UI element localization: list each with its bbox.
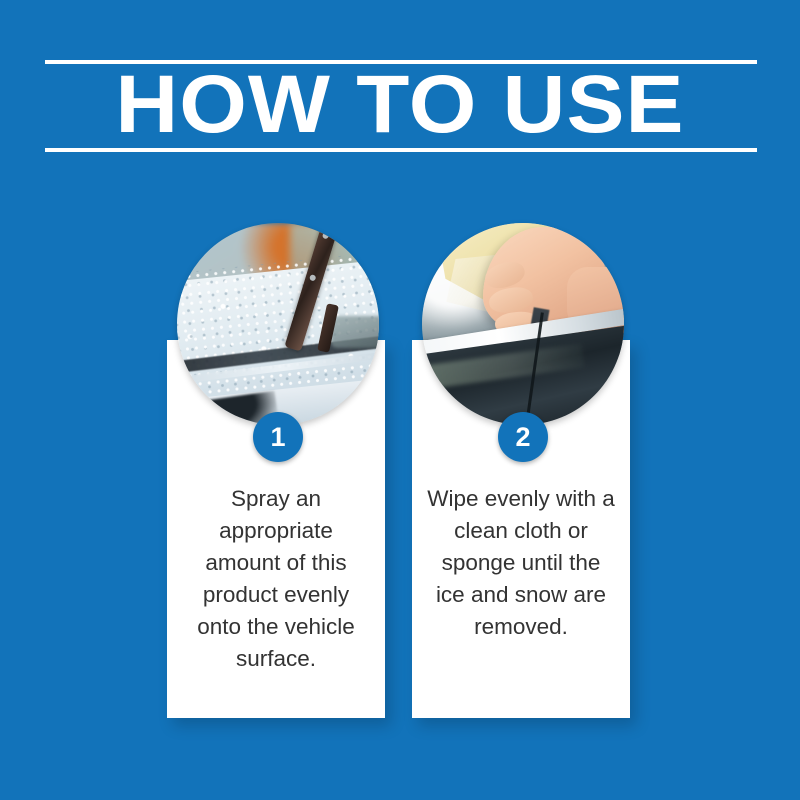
wiper-stud — [309, 274, 316, 281]
step-1-image — [177, 223, 379, 425]
steps-container: 1 Spray an appropriate amount of this pr… — [0, 0, 800, 800]
snow-windshield-photo — [177, 223, 379, 425]
wiper-stud — [322, 232, 329, 239]
step-badge-1: 1 — [253, 412, 303, 462]
step-badge-2: 2 — [498, 412, 548, 462]
step-1-caption: Spray an appropriate amount of this prod… — [180, 483, 372, 675]
step-2-image — [422, 223, 624, 425]
step-2-caption: Wipe evenly with a clean cloth or sponge… — [425, 483, 617, 643]
how-to-use-infographic: HOW TO USE 1 — [0, 0, 800, 800]
hand-wiping-window-photo — [422, 223, 624, 425]
side-mirror — [331, 316, 379, 348]
